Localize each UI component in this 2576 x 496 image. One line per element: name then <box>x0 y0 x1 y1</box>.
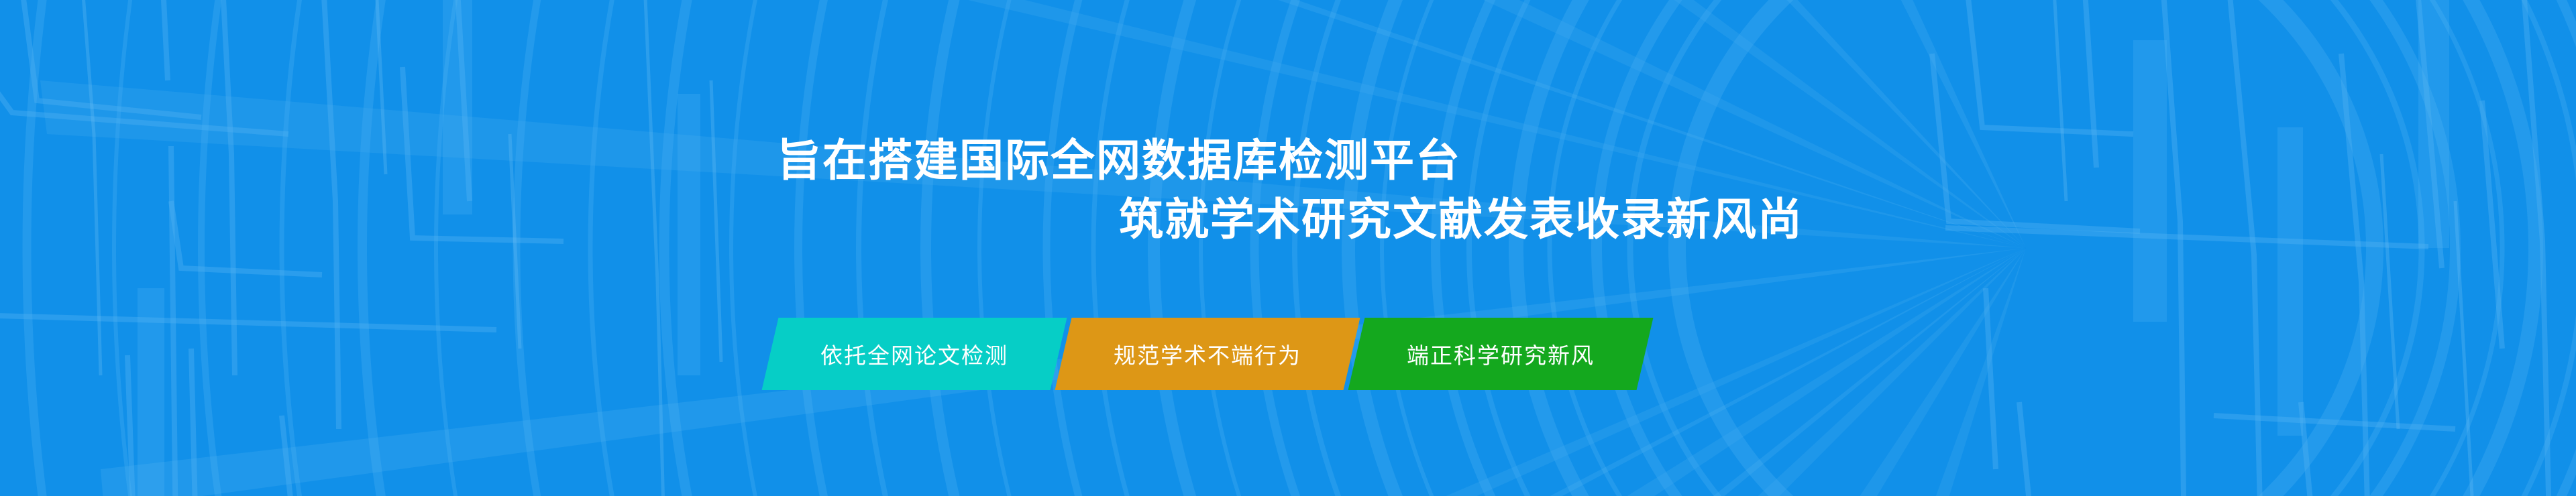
feature-tag-misconduct-label: 规范学术不端行为 <box>1114 338 1301 370</box>
feature-tag-detection[interactable]: 依托全网论文检测 <box>762 318 1067 390</box>
headline-line-1: 旨在搭建国际全网数据库检测平台 <box>777 131 1823 190</box>
feature-tag-detection-label: 依托全网论文检测 <box>820 338 1008 370</box>
headline-block: 旨在搭建国际全网数据库检测平台 筑就学术研究文献发表收录新风尚 <box>777 131 1823 249</box>
feature-tag-misconduct[interactable]: 规范学术不端行为 <box>1055 318 1360 390</box>
hero-banner: 旨在搭建国际全网数据库检测平台 筑就学术研究文献发表收录新风尚 依托全网论文检测… <box>0 0 2576 496</box>
feature-tag-new-trend-label: 端正科学研究新风 <box>1407 338 1595 370</box>
headline-line-2: 筑就学术研究文献发表收录新风尚 <box>777 190 1823 249</box>
feature-tag-new-trend[interactable]: 端正科学研究新风 <box>1348 318 1654 390</box>
feature-tag-strip: 依托全网论文检测 规范学术不端行为 端正科学研究新风 <box>770 318 1645 390</box>
